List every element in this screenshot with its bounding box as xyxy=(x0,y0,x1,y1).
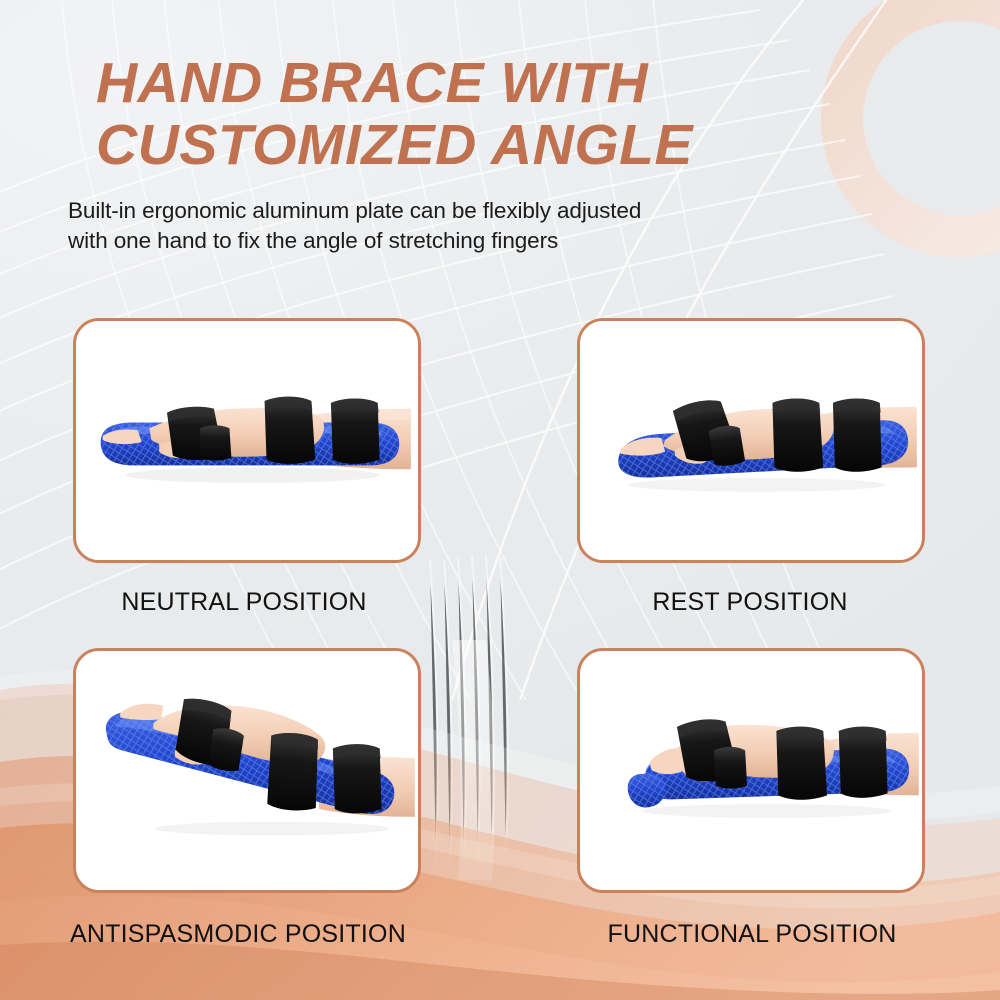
card-caption-rest: REST POSITION xyxy=(500,588,1000,617)
position-cell-rest: REST POSITION xyxy=(500,318,1000,648)
hand-brace-photo-antispasmodic xyxy=(76,651,418,890)
infographic-canvas: HAND BRACE WITH CUSTOMIZED ANGLE Built-i… xyxy=(0,0,1000,1000)
hand-brace-photo-functional xyxy=(580,651,922,890)
hand-brace-photo-neutral xyxy=(76,321,418,560)
page-title: HAND BRACE WITH CUSTOMIZED ANGLE xyxy=(0,52,1000,176)
product-card-neutral[interactable] xyxy=(73,318,421,563)
product-card-rest[interactable] xyxy=(577,318,925,563)
card-caption-neutral: NEUTRAL POSITION xyxy=(0,588,494,617)
position-cell-functional: FUNCTIONAL POSITION xyxy=(500,648,1000,978)
position-cell-neutral: NEUTRAL POSITION xyxy=(0,318,500,648)
position-card-grid: NEUTRAL POSITION xyxy=(0,318,1000,978)
card-caption-antispasmodic: ANTISPASMODIC POSITION xyxy=(0,920,488,949)
card-caption-functional: FUNCTIONAL POSITION xyxy=(502,920,1000,949)
product-card-functional[interactable] xyxy=(577,648,925,893)
product-card-antispasmodic[interactable] xyxy=(73,648,421,893)
hand-brace-photo-rest xyxy=(580,321,922,560)
position-cell-antispasmodic: ANTISPASMODIC POSITION xyxy=(0,648,500,978)
page-subtitle: Built-in ergonomic aluminum plate can be… xyxy=(0,196,1000,256)
header-block: HAND BRACE WITH CUSTOMIZED ANGLE Built-i… xyxy=(0,0,1000,256)
